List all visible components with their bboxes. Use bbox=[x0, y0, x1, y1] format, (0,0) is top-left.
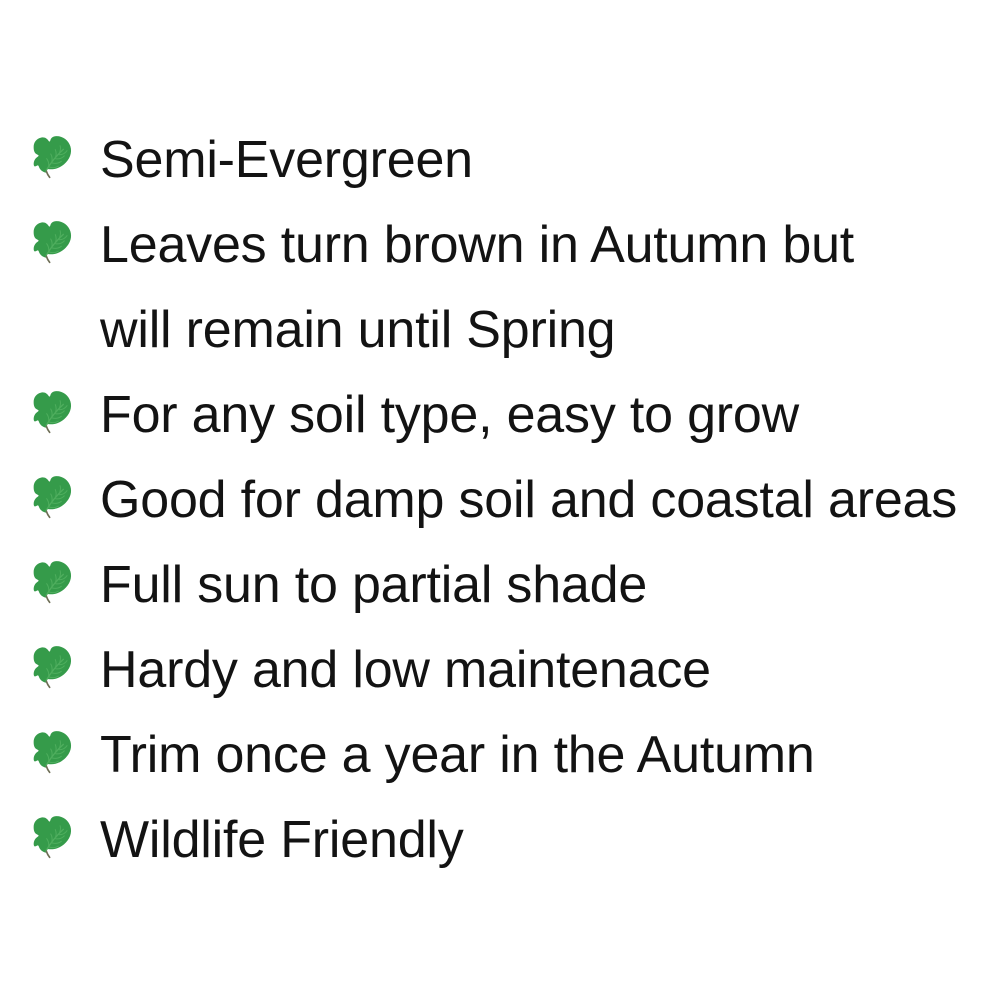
leaf-icon bbox=[27, 556, 77, 606]
feature-item: Hardy and low maintenace bbox=[0, 628, 1000, 713]
feature-label: will remain until Spring bbox=[100, 288, 1000, 373]
leaf-icon bbox=[27, 641, 77, 691]
feature-item: Good for damp soil and coastal areas bbox=[0, 458, 1000, 543]
feature-list: Semi-Evergreen Leaves turn brown in Autu… bbox=[0, 118, 1000, 883]
leaf-icon bbox=[27, 811, 77, 861]
leaf-icon bbox=[27, 131, 77, 181]
feature-item: Full sun to partial shade bbox=[0, 543, 1000, 628]
feature-item: Wildlife Friendly bbox=[0, 798, 1000, 883]
page-root: Semi-Evergreen Leaves turn brown in Autu… bbox=[0, 0, 1000, 1000]
leaf-icon bbox=[27, 386, 77, 436]
feature-label: Full sun to partial shade bbox=[100, 543, 1000, 628]
feature-label: For any soil type, easy to grow bbox=[100, 373, 1000, 458]
feature-label: Semi-Evergreen bbox=[100, 118, 1000, 203]
leaf-icon bbox=[27, 726, 77, 776]
leaf-icon bbox=[27, 471, 77, 521]
feature-label: Good for damp soil and coastal areas bbox=[100, 458, 1000, 543]
feature-item: Leaves turn brown in Autumn but bbox=[0, 203, 1000, 288]
feature-item: For any soil type, easy to grow bbox=[0, 373, 1000, 458]
feature-item: Semi-Evergreen bbox=[0, 118, 1000, 203]
feature-label: Trim once a year in the Autumn bbox=[100, 713, 1000, 798]
feature-label: Hardy and low maintenace bbox=[100, 628, 1000, 713]
feature-item-continuation: will remain until Spring bbox=[0, 288, 1000, 373]
leaf-icon bbox=[27, 216, 77, 266]
feature-label: Leaves turn brown in Autumn but bbox=[100, 203, 1000, 288]
feature-label: Wildlife Friendly bbox=[100, 798, 1000, 883]
feature-item: Trim once a year in the Autumn bbox=[0, 713, 1000, 798]
